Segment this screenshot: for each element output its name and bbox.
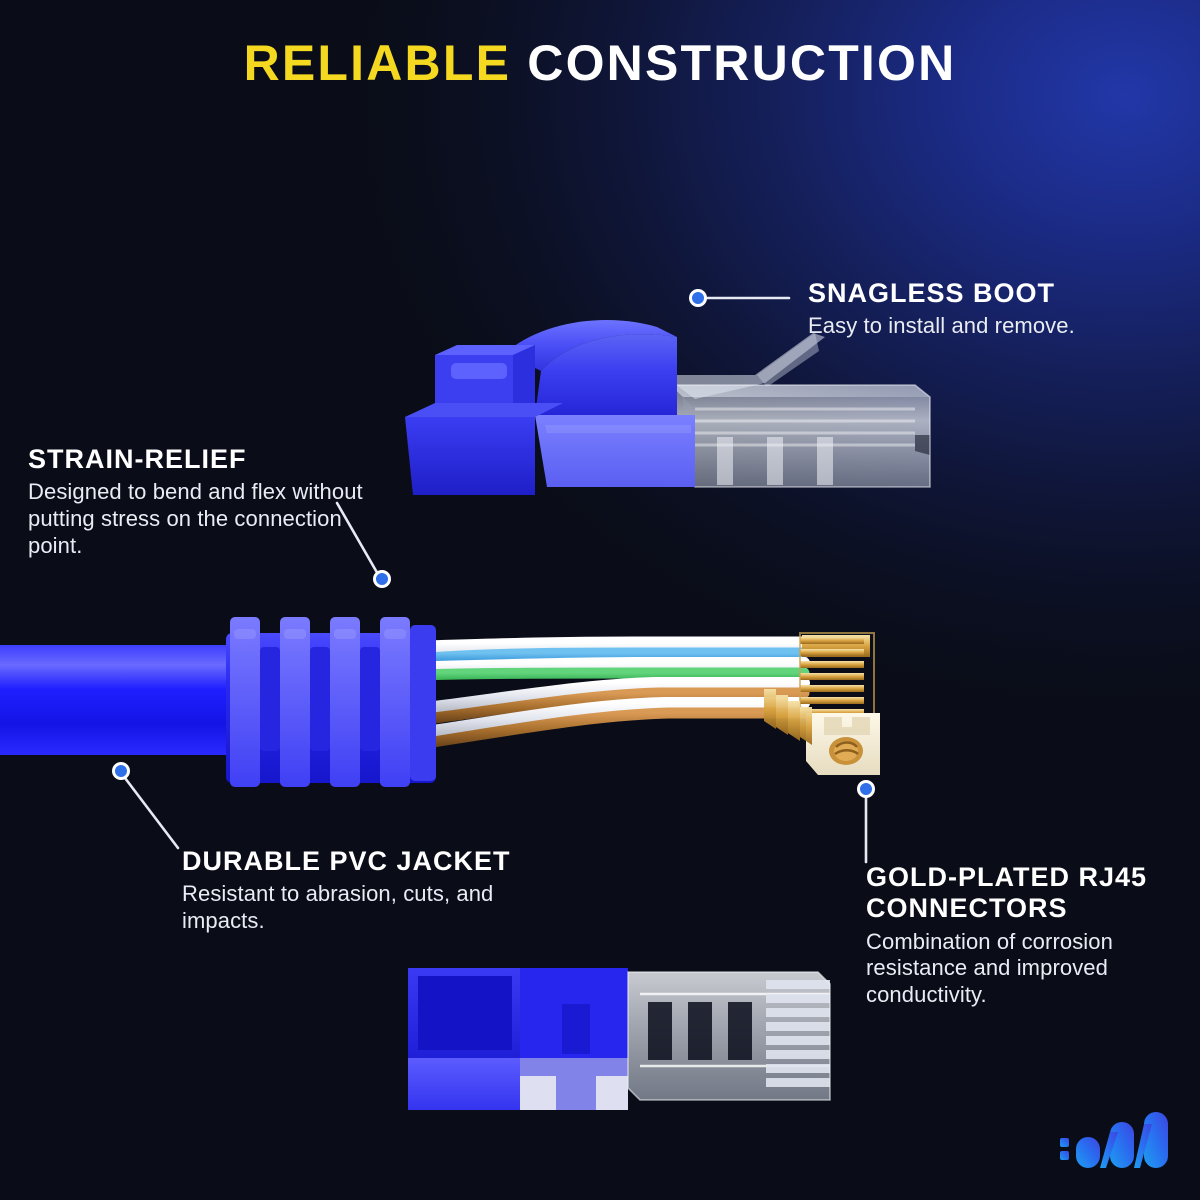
pvc-jacket <box>0 645 244 755</box>
callout-dot-strain[interactable] <box>373 570 391 588</box>
rj45-connector-top-view <box>400 950 850 1125</box>
callout-body: Combination of corrosion resistance and … <box>866 929 1176 1009</box>
callout-strain-relief: STRAIN-RELIEF Designed to bend and flex … <box>28 444 368 560</box>
callout-gold-plated-connectors: GOLD-PLATED RJ45 CONNECTORS Combination … <box>866 862 1176 1009</box>
callout-dot-gold[interactable] <box>857 780 875 798</box>
callout-dot-jacket[interactable] <box>112 762 130 780</box>
callout-heading: GOLD-PLATED RJ45 CONNECTORS <box>866 862 1176 925</box>
ethernet-cable-cutaway <box>0 595 914 805</box>
title-highlight: RELIABLE <box>244 35 512 91</box>
callout-snagless-boot: SNAGLESS BOOT Easy to install and remove… <box>808 278 1138 340</box>
callout-body: Resistant to abrasion, cuts, and impacts… <box>182 881 582 935</box>
brand-logo[interactable] <box>1058 1110 1178 1178</box>
bottom-clear-plug <box>628 972 830 1100</box>
infographic-canvas: RELIABLE CONSTRUCTION <box>0 0 1200 1200</box>
strain-relief-boot <box>226 617 436 787</box>
callout-dot-snagless[interactable] <box>689 289 707 307</box>
logo-mark <box>1060 1112 1168 1168</box>
callout-body: Designed to bend and flex without puttin… <box>28 479 368 559</box>
callout-heading: DURABLE PVC JACKET <box>182 846 582 877</box>
transparent-plug-body <box>663 333 930 487</box>
callout-heading: SNAGLESS BOOT <box>808 278 1138 309</box>
page-title: RELIABLE CONSTRUCTION <box>0 38 1200 88</box>
bottom-boot <box>408 968 628 1110</box>
callout-durable-pvc-jacket: DURABLE PVC JACKET Resistant to abrasion… <box>182 846 582 935</box>
title-rest: CONSTRUCTION <box>527 35 956 91</box>
callout-heading: STRAIN-RELIEF <box>28 444 368 475</box>
callout-body: Easy to install and remove. <box>808 313 1138 340</box>
